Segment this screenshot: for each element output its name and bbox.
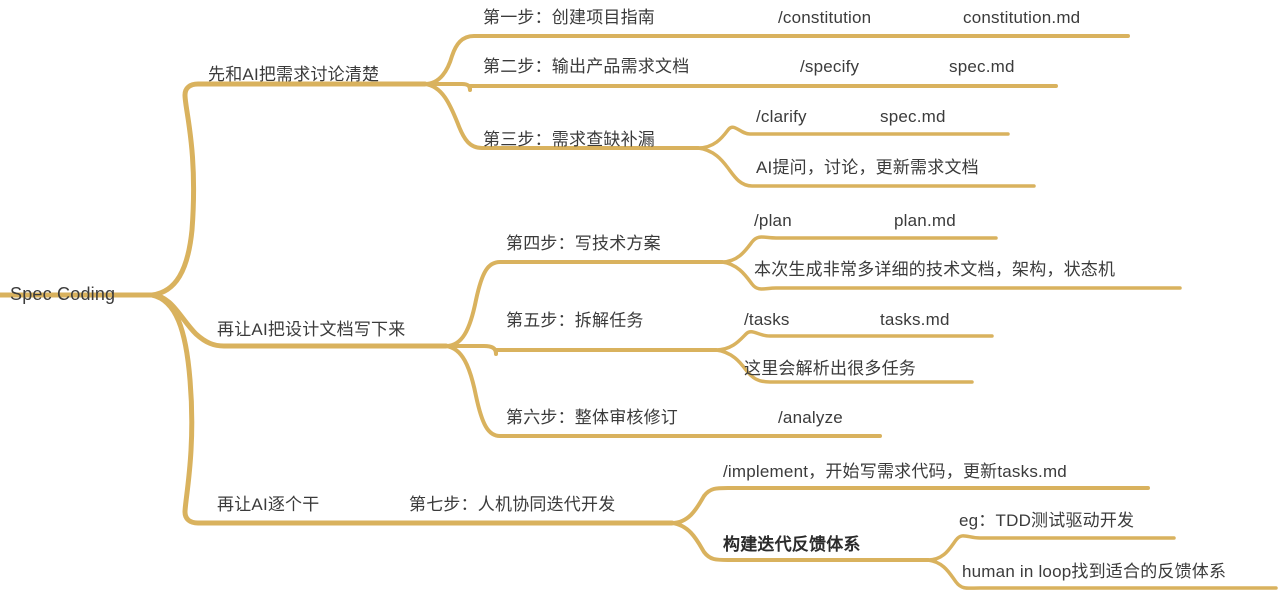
wire-b2-to-c2 xyxy=(446,346,716,354)
node-b3-step7-label[interactable]: 第七步：人机协同迭代开发 xyxy=(409,496,615,513)
node-b1-step1-label[interactable]: 第一步：创建项目指南 xyxy=(483,9,655,26)
node-branch-3[interactable]: 再让AI逐个干 xyxy=(217,496,319,513)
node-branch-1[interactable]: 先和AI把需求讨论清楚 xyxy=(208,66,379,83)
node-b2-step4-note[interactable]: 本次生成非常多详细的技术文档，架构，状态机 xyxy=(754,261,1115,278)
node-b1-step3-note[interactable]: AI提问，讨论，更新需求文档 xyxy=(756,159,979,176)
wire-b2c1-to-a xyxy=(722,237,996,262)
node-b2-step6-label[interactable]: 第六步：整体审核修订 xyxy=(506,409,678,426)
node-b3-feedback-humanloop[interactable]: human in loop找到适合的反馈体系 xyxy=(962,563,1226,580)
node-b2-step6-command[interactable]: /analyze xyxy=(778,409,843,426)
node-b2-step4-label[interactable]: 第四步：写技术方案 xyxy=(506,235,661,252)
node-b1-step3-artifact[interactable]: spec.md xyxy=(880,108,946,125)
node-b1-step2-command[interactable]: /specify xyxy=(800,58,859,75)
wire-b1-to-c2 xyxy=(425,84,1056,90)
node-b2-step4-command[interactable]: /plan xyxy=(754,212,792,229)
node-b1-step1-command[interactable]: /constitution xyxy=(778,9,871,26)
node-b1-step3-label[interactable]: 第三步：需求查缺补漏 xyxy=(483,131,655,148)
node-b1-step3-command[interactable]: /clarify xyxy=(756,108,807,125)
node-b2-step5-artifact[interactable]: tasks.md xyxy=(880,311,950,328)
node-b2-step4-artifact[interactable]: plan.md xyxy=(894,212,956,229)
wire-b3sub-to-a xyxy=(928,536,1174,560)
node-b2-step5-label[interactable]: 第五步：拆解任务 xyxy=(506,312,644,329)
node-b2-step5-note[interactable]: 这里会解析出很多任务 xyxy=(744,360,916,377)
node-b1-step1-artifact[interactable]: constitution.md xyxy=(963,9,1080,26)
mindmap-connectors xyxy=(0,0,1280,600)
node-b3-feedback-system[interactable]: 构建迭代反馈体系 xyxy=(723,536,861,553)
node-b1-step2-artifact[interactable]: spec.md xyxy=(949,58,1015,75)
node-b3-feedback-tdd[interactable]: eg：TDD测试驱动开发 xyxy=(959,512,1134,529)
node-root[interactable]: Spec Coding xyxy=(10,285,115,303)
wire-b1c3-to-a xyxy=(698,127,1008,148)
wire-b2-to-c1 xyxy=(446,262,722,346)
node-branch-2[interactable]: 再让AI把设计文档写下来 xyxy=(217,321,405,338)
node-b2-step5-command[interactable]: /tasks xyxy=(744,311,790,328)
node-b3-step7-implement[interactable]: /implement，开始写需求代码，更新tasks.md xyxy=(723,463,1067,480)
mindmap-canvas: Spec Coding 先和AI把需求讨论清楚 第一步：创建项目指南 /cons… xyxy=(0,0,1280,600)
wire-b2c2-to-a xyxy=(716,332,992,350)
node-b1-step2-label[interactable]: 第二步：输出产品需求文档 xyxy=(483,58,689,75)
wire-root-to-branch1 xyxy=(152,84,425,295)
